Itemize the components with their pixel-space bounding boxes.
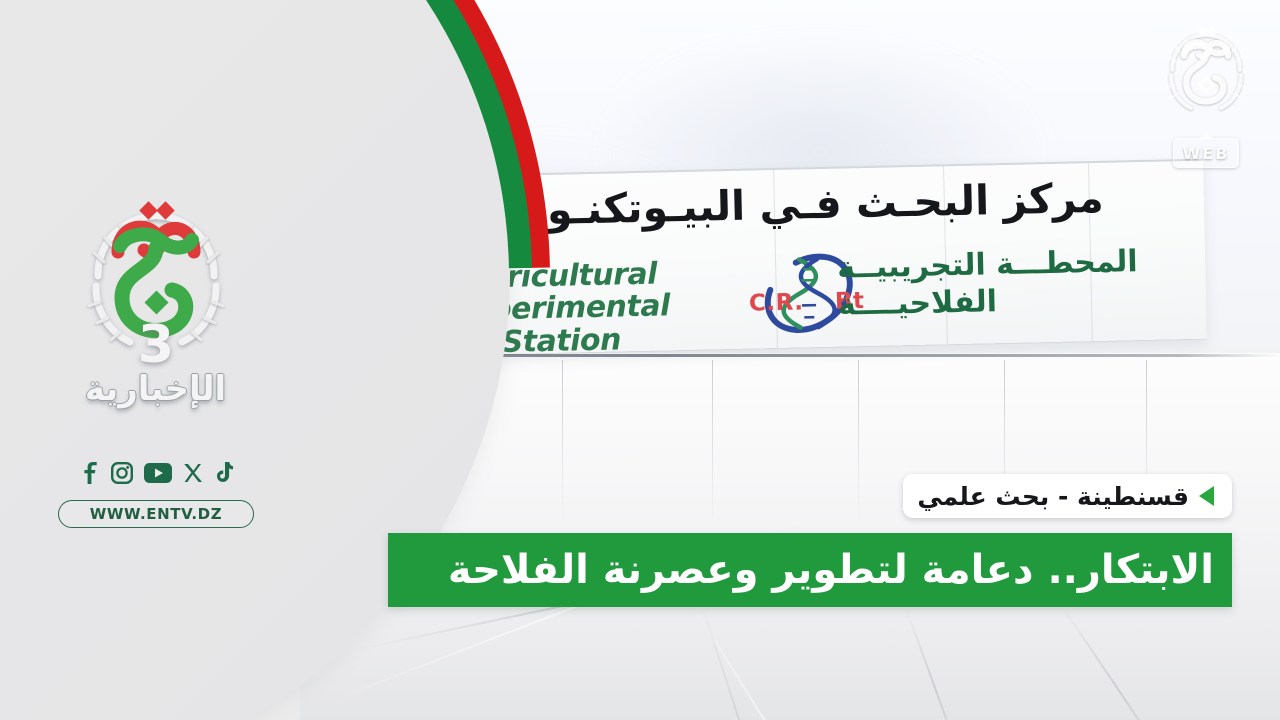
location-tag-label: قسنطينة - بحث علمي bbox=[917, 482, 1189, 511]
x-twitter-icon[interactable] bbox=[183, 463, 203, 483]
watermark-logo-icon bbox=[1148, 14, 1264, 136]
entv-logo-mark-icon: 3 bbox=[56, 190, 256, 375]
sign-arabic-subtitle-line-2: الفلاحيــــة bbox=[838, 280, 1189, 324]
broadcast-frame: مركز البحـث فـي البيـوتكنـولوجيا Agricul… bbox=[0, 0, 1280, 720]
youtube-icon[interactable] bbox=[144, 463, 172, 483]
tiktok-icon[interactable] bbox=[214, 462, 233, 484]
watermark-web-badge: WEB bbox=[1173, 138, 1239, 168]
wall-seam bbox=[712, 360, 713, 518]
svg-text:3: 3 bbox=[137, 315, 173, 375]
wall-seam bbox=[562, 360, 563, 518]
social-links-row[interactable] bbox=[58, 462, 254, 484]
crbt-logo-cr: C.R. bbox=[749, 289, 804, 316]
facebook-icon[interactable] bbox=[80, 462, 100, 484]
headline-bar: الابتكار.. دعامة لتطوير وعصرنة الفلاحة bbox=[388, 533, 1232, 607]
headline-text: الابتكار.. دعامة لتطوير وعصرنة الفلاحة bbox=[448, 550, 1214, 590]
entv-logo-name: الإخبارية bbox=[48, 369, 263, 409]
instagram-icon[interactable] bbox=[111, 462, 133, 484]
wall-seam bbox=[858, 360, 859, 518]
sign-arabic-subtitle: المحطـــة التجريبيــة الفلاحيــــة bbox=[837, 243, 1189, 324]
channel-watermark: WEB bbox=[1148, 14, 1264, 172]
entv-logo: 3 الإخبارية bbox=[48, 190, 263, 450]
triangle-left-icon bbox=[1199, 486, 1214, 506]
location-tag: قسنطينة - بحث علمي bbox=[903, 474, 1232, 518]
sign-arabic-subtitle-line-1: المحطـــة التجريبيــة bbox=[837, 243, 1188, 287]
website-url-pill[interactable]: WWW.ENTV.DZ bbox=[58, 500, 254, 528]
